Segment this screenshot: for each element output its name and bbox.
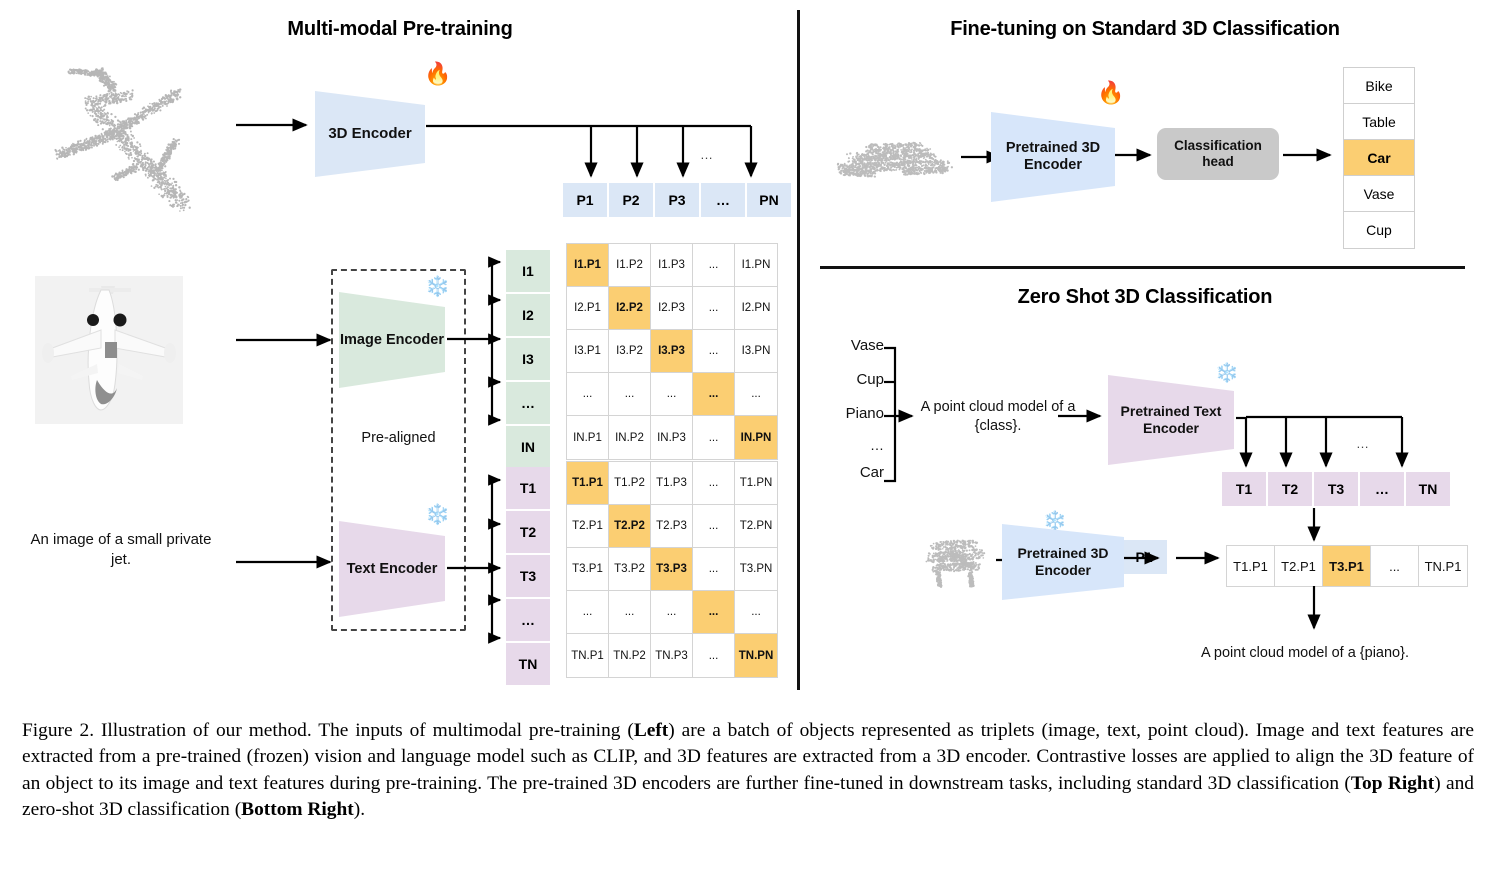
zeroshot-text-token-4: TN [1406,472,1450,506]
image-token-3: … [506,382,550,424]
zeroshot-result-text: A point cloud model of a {piano}. [1185,644,1425,663]
classification-head-label: Classification head [1157,138,1279,170]
image-matrix-cell-0-1: I1.P2 [609,244,651,287]
image-matrix-cell-4-3: ... [693,416,735,459]
zeroshot-class-name-2: Piano [818,405,884,422]
caption-part-4: ). [354,799,365,820]
image-matrix-cell-3-4: ... [735,373,777,416]
text-matrix-cell-1-3: ... [693,505,735,548]
class-list-finetune: BikeTableCarVaseCup [1343,67,1415,249]
text-matrix-cell-4-4: TN.PN [735,634,777,677]
airplane-point-cloud-svg [18,45,228,225]
image-encoder-label: Image Encoder [340,332,444,349]
airplane-point-cloud-image [18,45,228,225]
zeroshot-score-cell-1: T2.P1 [1275,546,1323,586]
caption-part-1: Figure 2. Illustration of our method. Th… [22,720,634,741]
zeroshot-class-name-0: Vase [818,337,884,354]
car-point-cloud-image [828,128,958,186]
text-matrix-cell-2-1: T3.P2 [609,548,651,591]
pretrained-text-encoder-box: Pretrained Text Encoder [1108,373,1234,467]
text-matrix-cell-2-0: T3.P1 [567,548,609,591]
vertical-divider [797,10,800,690]
figure-caption: Figure 2. Illustration of our method. Th… [22,718,1474,824]
pretrained-3d-encoder-label-finetune: Pretrained 3D Encoder [991,140,1115,175]
zeroshot-score-cell-2: T3.P1 [1323,546,1371,586]
airplane-render-svg [35,276,183,424]
image-matrix-cell-4-2: IN.P3 [651,416,693,459]
text-matrix-cell-0-1: T1.P2 [609,462,651,505]
image-matrix-cell-2-0: I3.P1 [567,330,609,373]
pretrained-3d-encoder-box-finetune: Pretrained 3D Encoder [991,110,1115,204]
class-list-item-car[interactable]: Car [1344,140,1414,176]
point-token-4: PN [747,183,791,217]
text-matrix-cell-0-0: T1.P1 [567,462,609,505]
image-matrix-cell-3-1: ... [609,373,651,416]
image-matrix-cell-2-1: I3.P2 [609,330,651,373]
point-token-3: … [701,183,745,217]
text-token-column: T1T2T3…TN [506,467,550,685]
figure-canvas: Multi-modal Pre-training Fine-tuning on … [0,0,1490,700]
image-point-similarity-matrix: I1.P1I1.P2I1.P3...I1.PNI2.P1I2.P2I2.P3..… [566,243,778,460]
pretrained-3d-encoder-label-zeroshot: Pretrained 3D Encoder [1002,545,1124,579]
image-matrix-cell-3-2: ... [651,373,693,416]
zeroshot-text-token-2: T3 [1314,472,1358,506]
zeroshot-class-name-4: Car [818,464,884,481]
point-token-ellipsis: … [700,147,713,162]
text-token-4: TN [506,643,550,685]
zeroshot-text-token-0: T1 [1222,472,1266,506]
pretrained-text-encoder-label: Pretrained Text Encoder [1108,403,1234,437]
point-token-row: P1P2P3…PN [563,183,791,217]
text-encoder-box: Text Encoder [339,519,445,619]
text-token-3: … [506,599,550,641]
text-token-0: T1 [506,467,550,509]
classification-head-box: Classification head [1157,128,1279,180]
zeroshot-score-row: T1.P1T2.P1T3.P1...TN.P1 [1226,545,1468,587]
prompt-template-text: A point cloud model of a {class}. [908,398,1088,435]
caption-bold-top-right: Top Right [1351,773,1434,794]
text-matrix-cell-1-1: T2.P2 [609,505,651,548]
car-point-cloud-svg [828,128,958,186]
zeroshot-score-cell-0: T1.P1 [1227,546,1275,586]
text-matrix-cell-3-3: ... [693,591,735,634]
zeroshot-score-cell-3: ... [1371,546,1419,586]
caption-bold-bottom-right: Bottom Right [241,799,354,820]
fire-icon: 🔥 [1097,82,1124,104]
text-matrix-cell-2-3: ... [693,548,735,591]
panel-title-finetuning: Fine-tuning on Standard 3D Classificatio… [860,18,1430,41]
text-matrix-cell-3-2: ... [651,591,693,634]
image-matrix-cell-2-3: ... [693,330,735,373]
image-matrix-cell-0-3: ... [693,244,735,287]
image-matrix-cell-3-0: ... [567,373,609,416]
image-matrix-cell-1-3: ... [693,287,735,330]
image-matrix-cell-1-4: I2.PN [735,287,777,330]
image-matrix-cell-0-2: I1.P3 [651,244,693,287]
text-matrix-cell-0-3: ... [693,462,735,505]
zeroshot-score-cell-4: TN.P1 [1419,546,1467,586]
text-point-similarity-matrix: T1.P1T1.P2T1.P3...T1.PNT2.P1T2.P2T2.P3..… [566,461,778,678]
point-token-1: P2 [609,183,653,217]
point-token-0: P1 [563,183,607,217]
image-matrix-cell-0-4: I1.PN [735,244,777,287]
text-matrix-cell-1-2: T2.P3 [651,505,693,548]
text-matrix-cell-3-4: ... [735,591,777,634]
image-matrix-cell-4-1: IN.P2 [609,416,651,459]
image-token-4: IN [506,426,550,468]
panel-title-zeroshot: Zero Shot 3D Classification [860,286,1430,309]
image-token-0: I1 [506,250,550,292]
encoder-3d-box: 3D Encoder [315,88,425,180]
text-matrix-cell-0-4: T1.PN [735,462,777,505]
zeroshot-token-ellipsis: … [1356,436,1369,451]
image-matrix-cell-1-0: I2.P1 [567,287,609,330]
image-matrix-cell-1-2: I2.P3 [651,287,693,330]
image-matrix-cell-1-1: I2.P2 [609,287,651,330]
class-list-item-table[interactable]: Table [1344,104,1414,140]
class-list-item-vase[interactable]: Vase [1344,176,1414,212]
text-matrix-cell-0-2: T1.P3 [651,462,693,505]
image-matrix-cell-2-2: I3.P3 [651,330,693,373]
panel-title-multimodal-pretraining: Multi-modal Pre-training [150,18,650,41]
encoder-3d-label: 3D Encoder [328,125,411,142]
class-list-item-bike[interactable]: Bike [1344,68,1414,104]
text-matrix-cell-4-3: ... [693,634,735,677]
image-token-2: I3 [506,338,550,380]
zeroshot-class-name-1: Cup [818,371,884,388]
text-matrix-cell-1-0: T2.P1 [567,505,609,548]
image-matrix-cell-2-4: I3.PN [735,330,777,373]
prealigned-label: Pre-aligned [331,430,466,446]
zeroshot-text-token-1: T2 [1268,472,1312,506]
class-list-item-cup[interactable]: Cup [1344,212,1414,248]
image-matrix-cell-4-0: IN.P1 [567,416,609,459]
zeroshot-text-token-3: … [1360,472,1404,506]
text-matrix-cell-2-2: T3.P3 [651,548,693,591]
text-matrix-cell-2-4: T3.PN [735,548,777,591]
text-matrix-cell-4-0: TN.P1 [567,634,609,677]
image-encoder-box: Image Encoder [339,290,445,390]
text-token-2: T3 [506,555,550,597]
text-matrix-cell-1-4: T2.PN [735,505,777,548]
text-matrix-cell-3-1: ... [609,591,651,634]
text-matrix-cell-4-2: TN.P3 [651,634,693,677]
piano-point-cloud-image [920,528,992,590]
zeroshot-class-name-3: … [818,437,884,453]
text-encoder-label: Text Encoder [347,561,438,578]
text-matrix-cell-3-0: ... [567,591,609,634]
caption-bold-left: Left [634,720,668,741]
image-matrix-cell-3-3: ... [693,373,735,416]
airplane-rendered-image [35,276,183,424]
pretrained-3d-encoder-box-zeroshot: Pretrained 3D Encoder [1002,522,1124,602]
horizontal-divider [820,266,1465,269]
image-matrix-cell-4-4: IN.PN [735,416,777,459]
point-token-2: P3 [655,183,699,217]
image-token-column: I1I2I3…IN [506,250,550,468]
zeroshot-point-token: P1 [1121,540,1167,574]
piano-point-cloud-svg [920,528,992,590]
text-token-1: T2 [506,511,550,553]
fire-icon: 🔥 [424,63,451,85]
zeroshot-text-token-row: T1T2T3…TN [1222,472,1450,506]
text-input-caption: An image of a small private jet. [26,530,216,571]
image-token-1: I2 [506,294,550,336]
text-matrix-cell-4-1: TN.P2 [609,634,651,677]
image-matrix-cell-0-0: I1.P1 [567,244,609,287]
